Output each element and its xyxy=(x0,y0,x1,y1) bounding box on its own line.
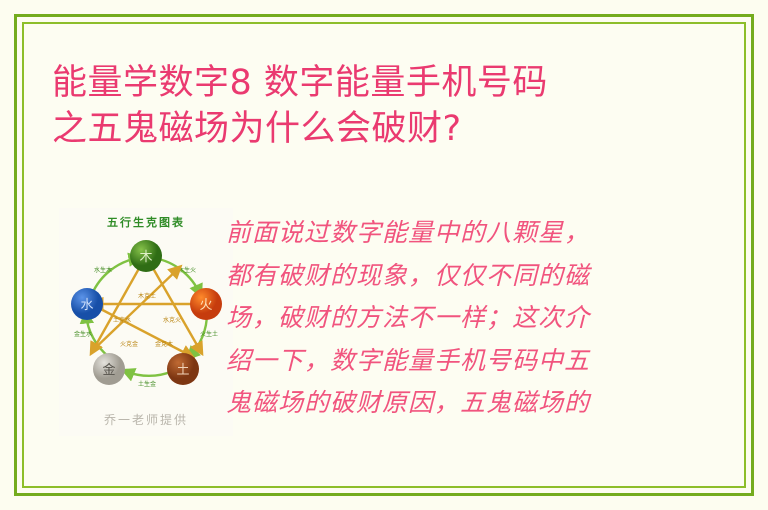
element-node-fire: 火 xyxy=(190,288,222,320)
element-node-wood: 木 xyxy=(130,240,162,272)
figure-caption: 乔一老师提供 xyxy=(59,411,233,428)
svg-text:水: 水 xyxy=(80,298,93,313)
article-content: 五行生克图表 xyxy=(56,206,706,442)
title-line-2: 之五鬼磁场为什么会破财? xyxy=(52,106,702,152)
title-line-1: 能量学数字8 数字能量手机号码 xyxy=(52,60,702,106)
element-node-metal: 金 xyxy=(93,353,125,385)
svg-text:火生土: 火生土 xyxy=(200,330,218,338)
element-node-earth: 土 xyxy=(167,353,199,385)
svg-text:金生水: 金生水 xyxy=(74,330,92,338)
svg-text:土生金: 土生金 xyxy=(138,380,156,388)
body-line: 前面说过数字能量中的八颗星， xyxy=(226,212,706,255)
body-line: 场，破财的方法不一样；这次介 xyxy=(226,297,706,340)
svg-text:火: 火 xyxy=(199,298,212,313)
svg-text:火克金: 火克金 xyxy=(120,340,138,348)
svg-text:金: 金 xyxy=(102,362,115,378)
svg-text:土: 土 xyxy=(176,363,189,378)
svg-text:木克土: 木克土 xyxy=(138,292,156,300)
svg-text:木生火: 木生火 xyxy=(178,266,196,274)
body-line: 都有破财的现象，仅仅不同的磁 xyxy=(226,255,706,298)
svg-text:水克火: 水克火 xyxy=(163,316,181,324)
figure-heading: 五行生克图表 xyxy=(59,214,233,230)
page-title: 能量学数字8 数字能量手机号码 之五鬼磁场为什么会破财? xyxy=(52,60,702,152)
element-node-water: 水 xyxy=(71,288,103,320)
wuxing-diagram-figure: 五行生克图表 xyxy=(59,208,233,436)
article-body: 前面说过数字能量中的八颗星， 都有破财的现象，仅仅不同的磁 场，破财的方法不一样… xyxy=(226,212,706,425)
svg-text:土克水: 土克水 xyxy=(113,316,131,324)
svg-text:木: 木 xyxy=(139,250,152,265)
svg-text:金克木: 金克木 xyxy=(155,340,173,348)
svg-text:水生木: 水生木 xyxy=(94,266,112,274)
body-line: 绍一下，数字能量手机号码中五 xyxy=(226,340,706,383)
wuxing-diagram-svg: 木生火 火生土 土生金 金生水 水生木 木克土 土克水 水 xyxy=(59,234,233,406)
body-line: 鬼磁场的破财原因，五鬼磁场的 xyxy=(226,382,706,425)
article-page: 能量学数字8 数字能量手机号码 之五鬼磁场为什么会破财? 五行生克图表 xyxy=(0,0,768,510)
